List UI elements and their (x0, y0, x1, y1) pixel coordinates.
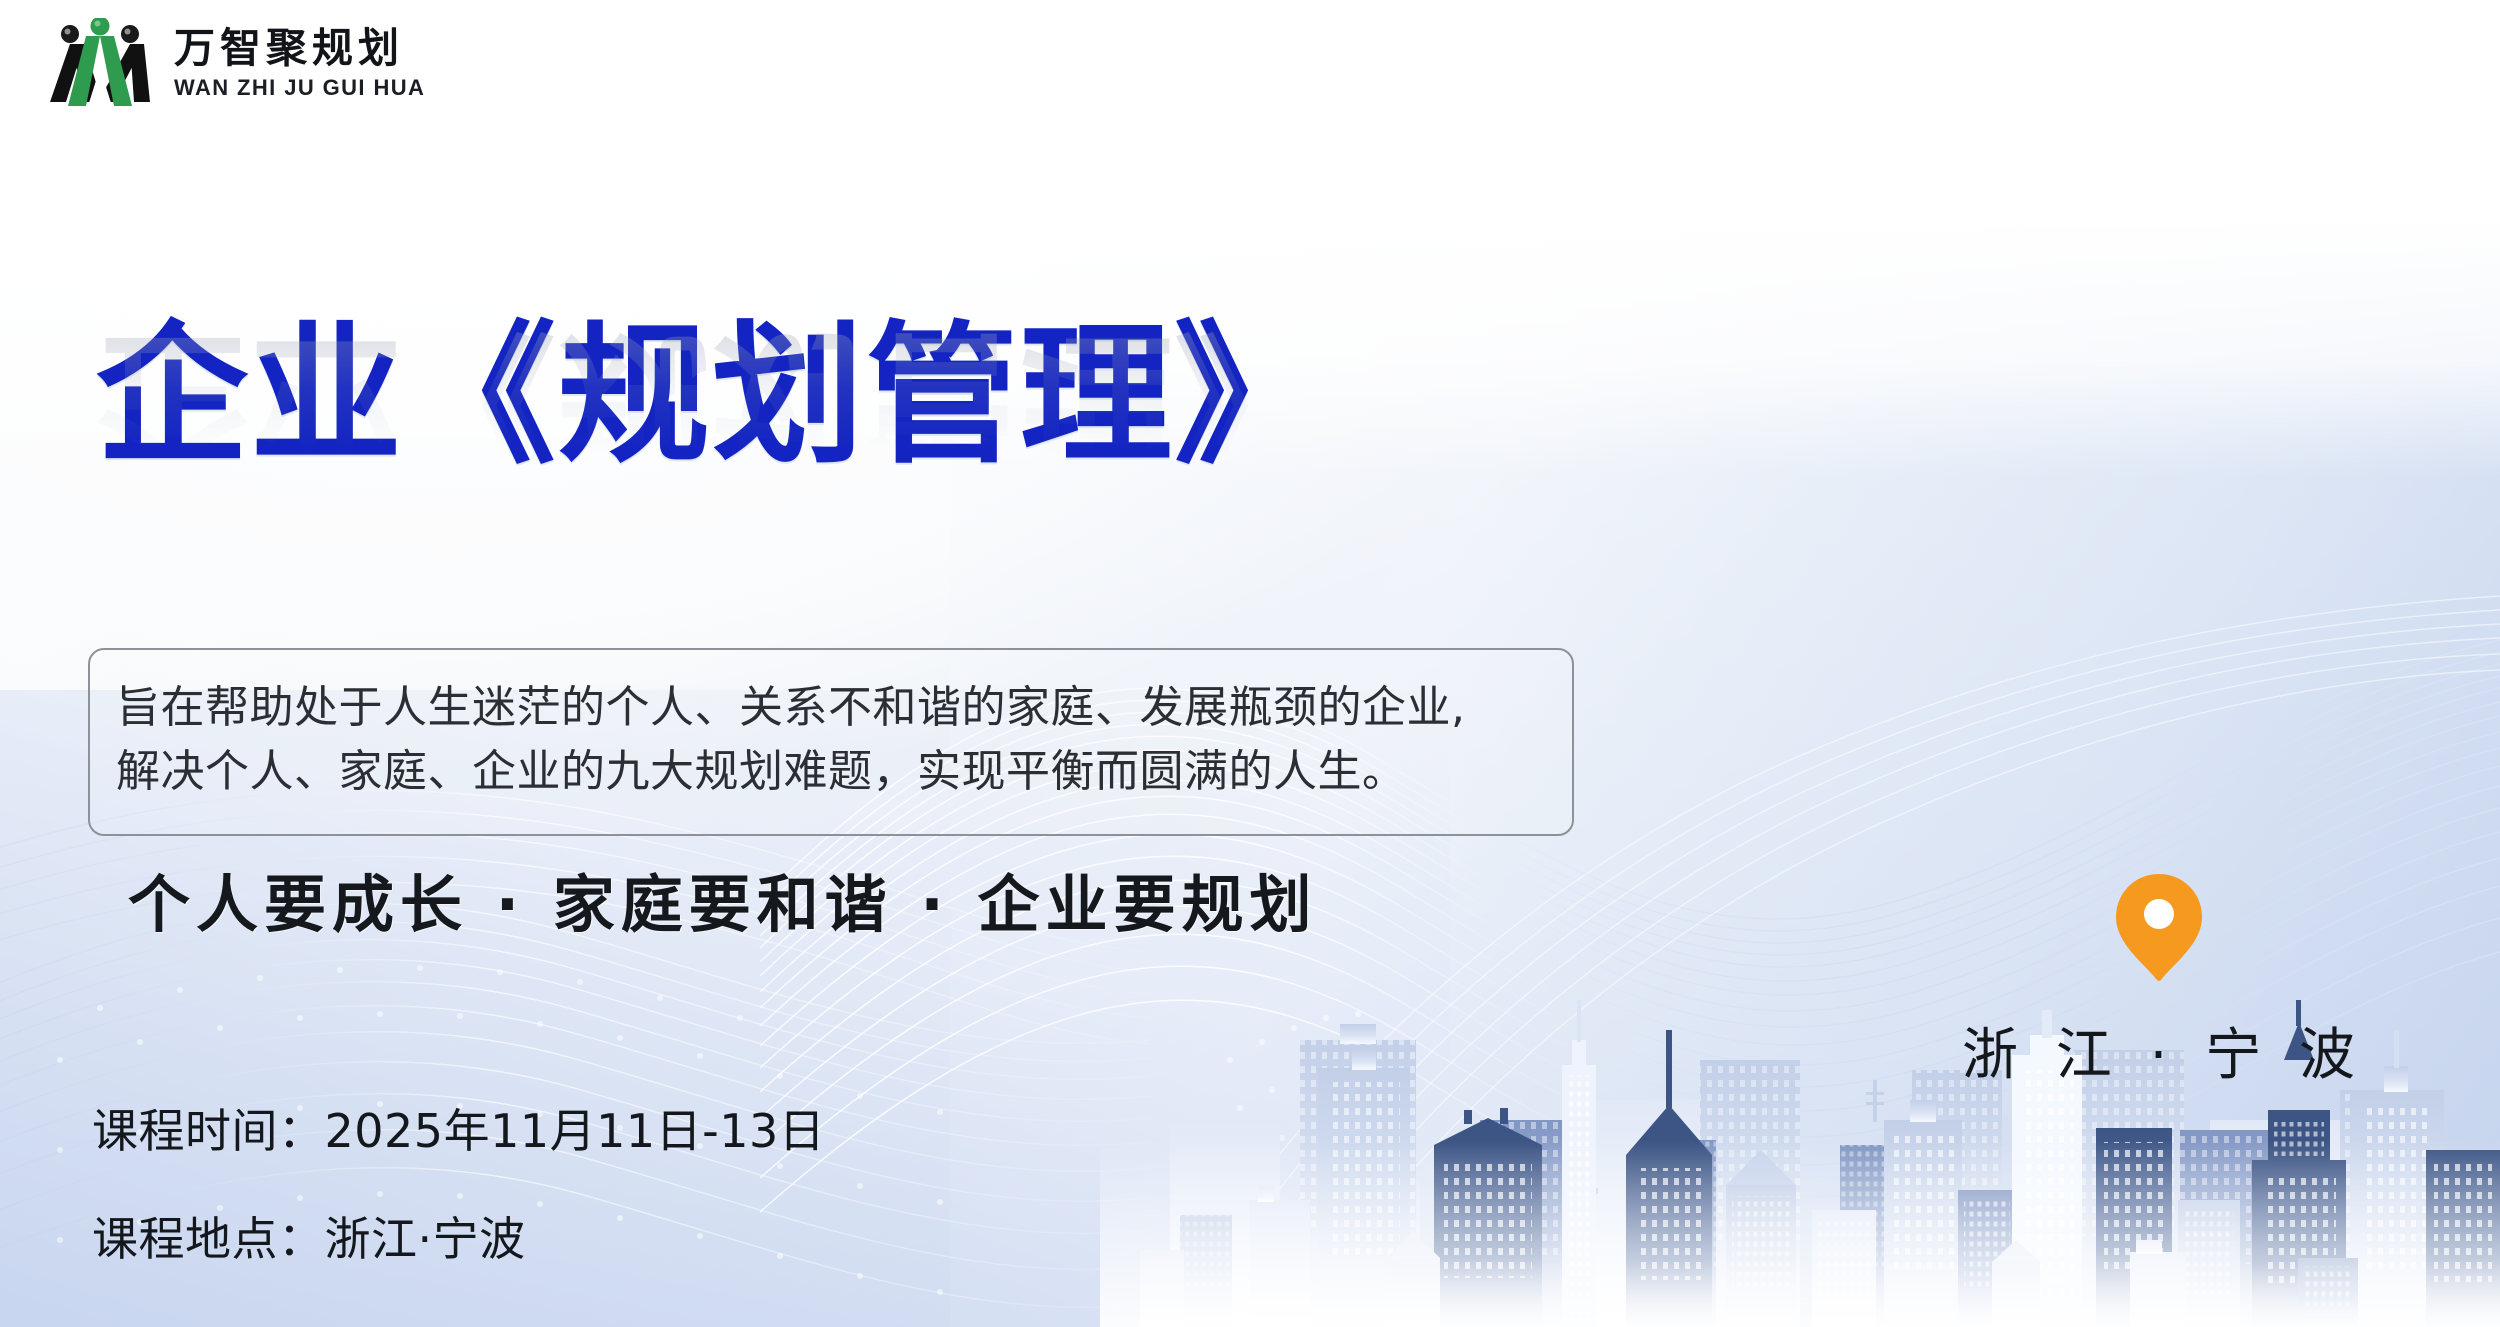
tagline: 个人要成长 · 家庭要和谐 · 企业要规划 (128, 854, 1317, 944)
course-meta: 课程时间：2025年11月11日-13日 课程地点：浙江·宁波 (92, 1095, 825, 1269)
brand-name-cn: 万智聚规划 (174, 27, 425, 70)
three-people-logo-icon (44, 18, 156, 110)
brand-name-pinyin: WAN ZHI JU GUI HUA (174, 75, 425, 101)
description-line-1: 旨在帮助处于人生迷茫的个人、关系不和谐的家庭、发展瓶颈的企业, (116, 676, 1542, 740)
description-box: 旨在帮助处于人生迷茫的个人、关系不和谐的家庭、发展瓶颈的企业, 解决个人、家庭、… (88, 648, 1574, 836)
poster-canvas: 万智聚规划 WAN ZHI JU GUI HUA 企业《规划管理》 企业《规划管… (0, 0, 2500, 1327)
course-place: 课程地点：浙江·宁波 (92, 1203, 825, 1269)
description-line-2: 解决个人、家庭、企业的九大规划难题，实现平衡而圆满的人生。 (116, 740, 1542, 804)
location-badge: 浙 江 · 宁 波 (1952, 872, 2365, 1091)
page-title: 企业《规划管理》 (96, 320, 1328, 472)
poster-title-block: 企业《规划管理》 企业《规划管理》 (96, 320, 1328, 628)
location-label: 浙 江 · 宁 波 (1952, 1010, 2365, 1091)
brand-logo[interactable]: 万智聚规划 WAN ZHI JU GUI HUA (44, 18, 425, 110)
map-pin-icon (2113, 872, 2205, 982)
brand-logo-text: 万智聚规划 WAN ZHI JU GUI HUA (174, 27, 425, 101)
course-time: 课程时间：2025年11月11日-13日 (92, 1095, 825, 1161)
